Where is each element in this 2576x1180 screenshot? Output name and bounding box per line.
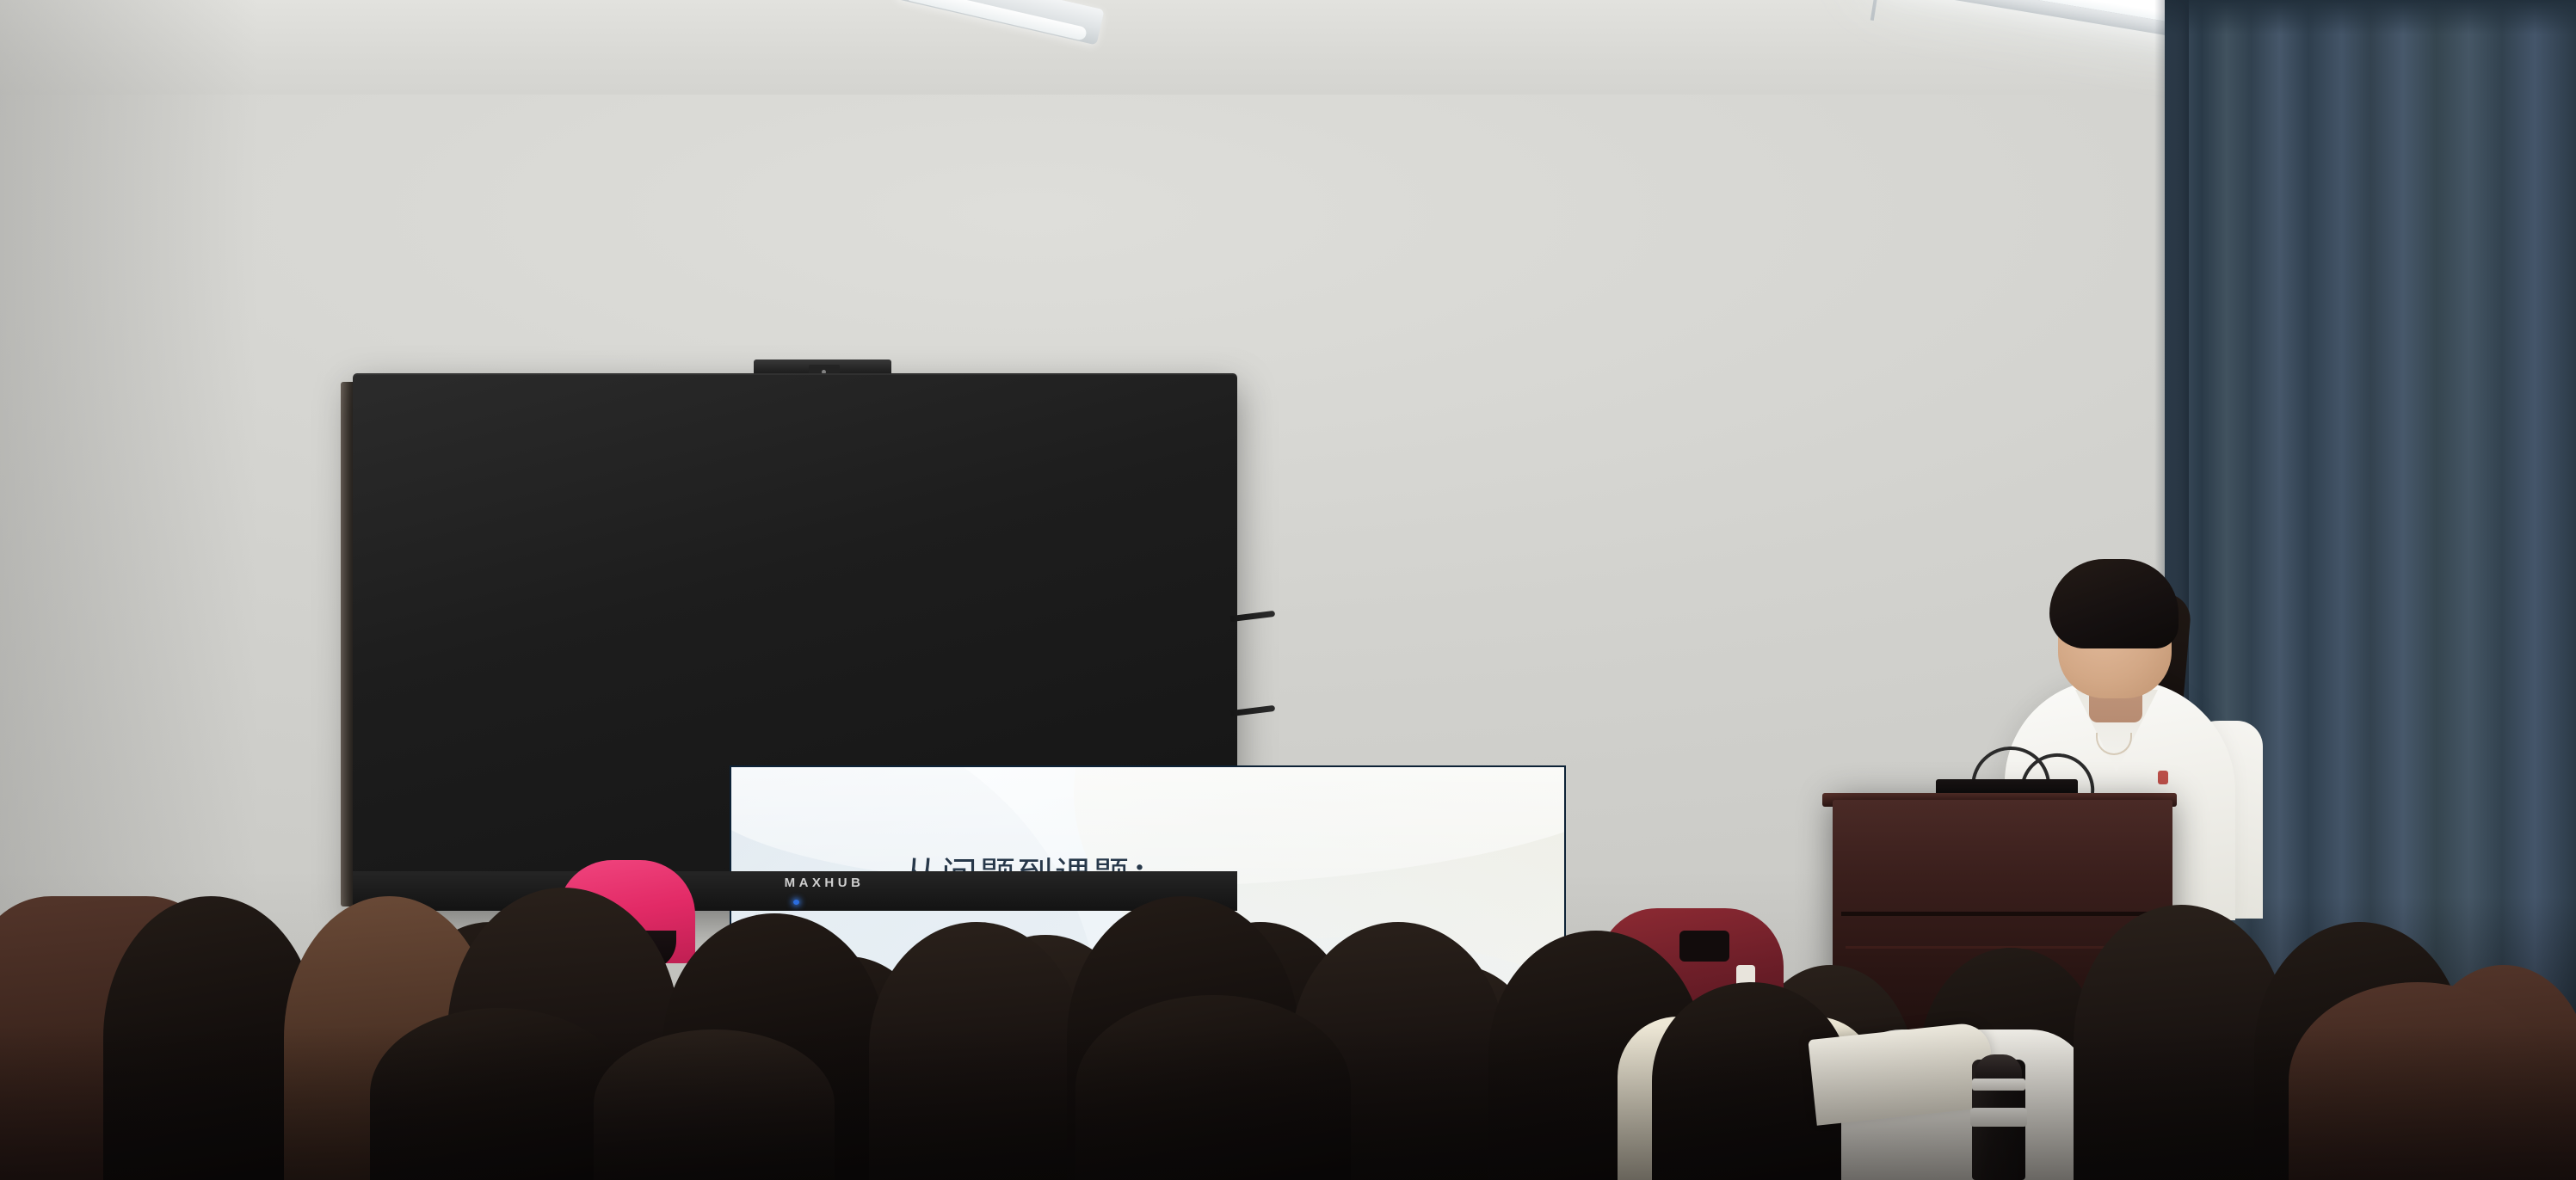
power-led-icon [793,900,799,905]
lecture-hall-photo: 从问题到课题： 我在三线单位调研的科研历程 辛文娟 四川外国语大学新闻传播学院 [0,0,2576,1180]
maroon-cap-opening [1679,931,1729,962]
audience-head-foreground [594,1029,835,1180]
maxhub-display[interactable]: 从问题到课题： 我在三线单位调研的科研历程 辛文娟 四川外国语大学新闻传播学院 [353,373,1237,911]
presenter-badge [2158,771,2168,784]
thermos-ring-upper [1972,1079,2025,1091]
maxhub-brand-label: MAXHUB [764,876,884,891]
podium-panel-line [1841,912,2164,916]
curtain-top-shadow [2165,0,2576,34]
thermos-lid [1975,1054,2022,1080]
audience-head-foreground [2289,982,2547,1180]
presenter-hair [2049,559,2179,648]
audience-head-foreground [370,1008,628,1180]
thermos-ring-lower [1970,1108,2027,1127]
audience-head [869,922,1084,1180]
audience-head-foreground [1075,995,1351,1180]
